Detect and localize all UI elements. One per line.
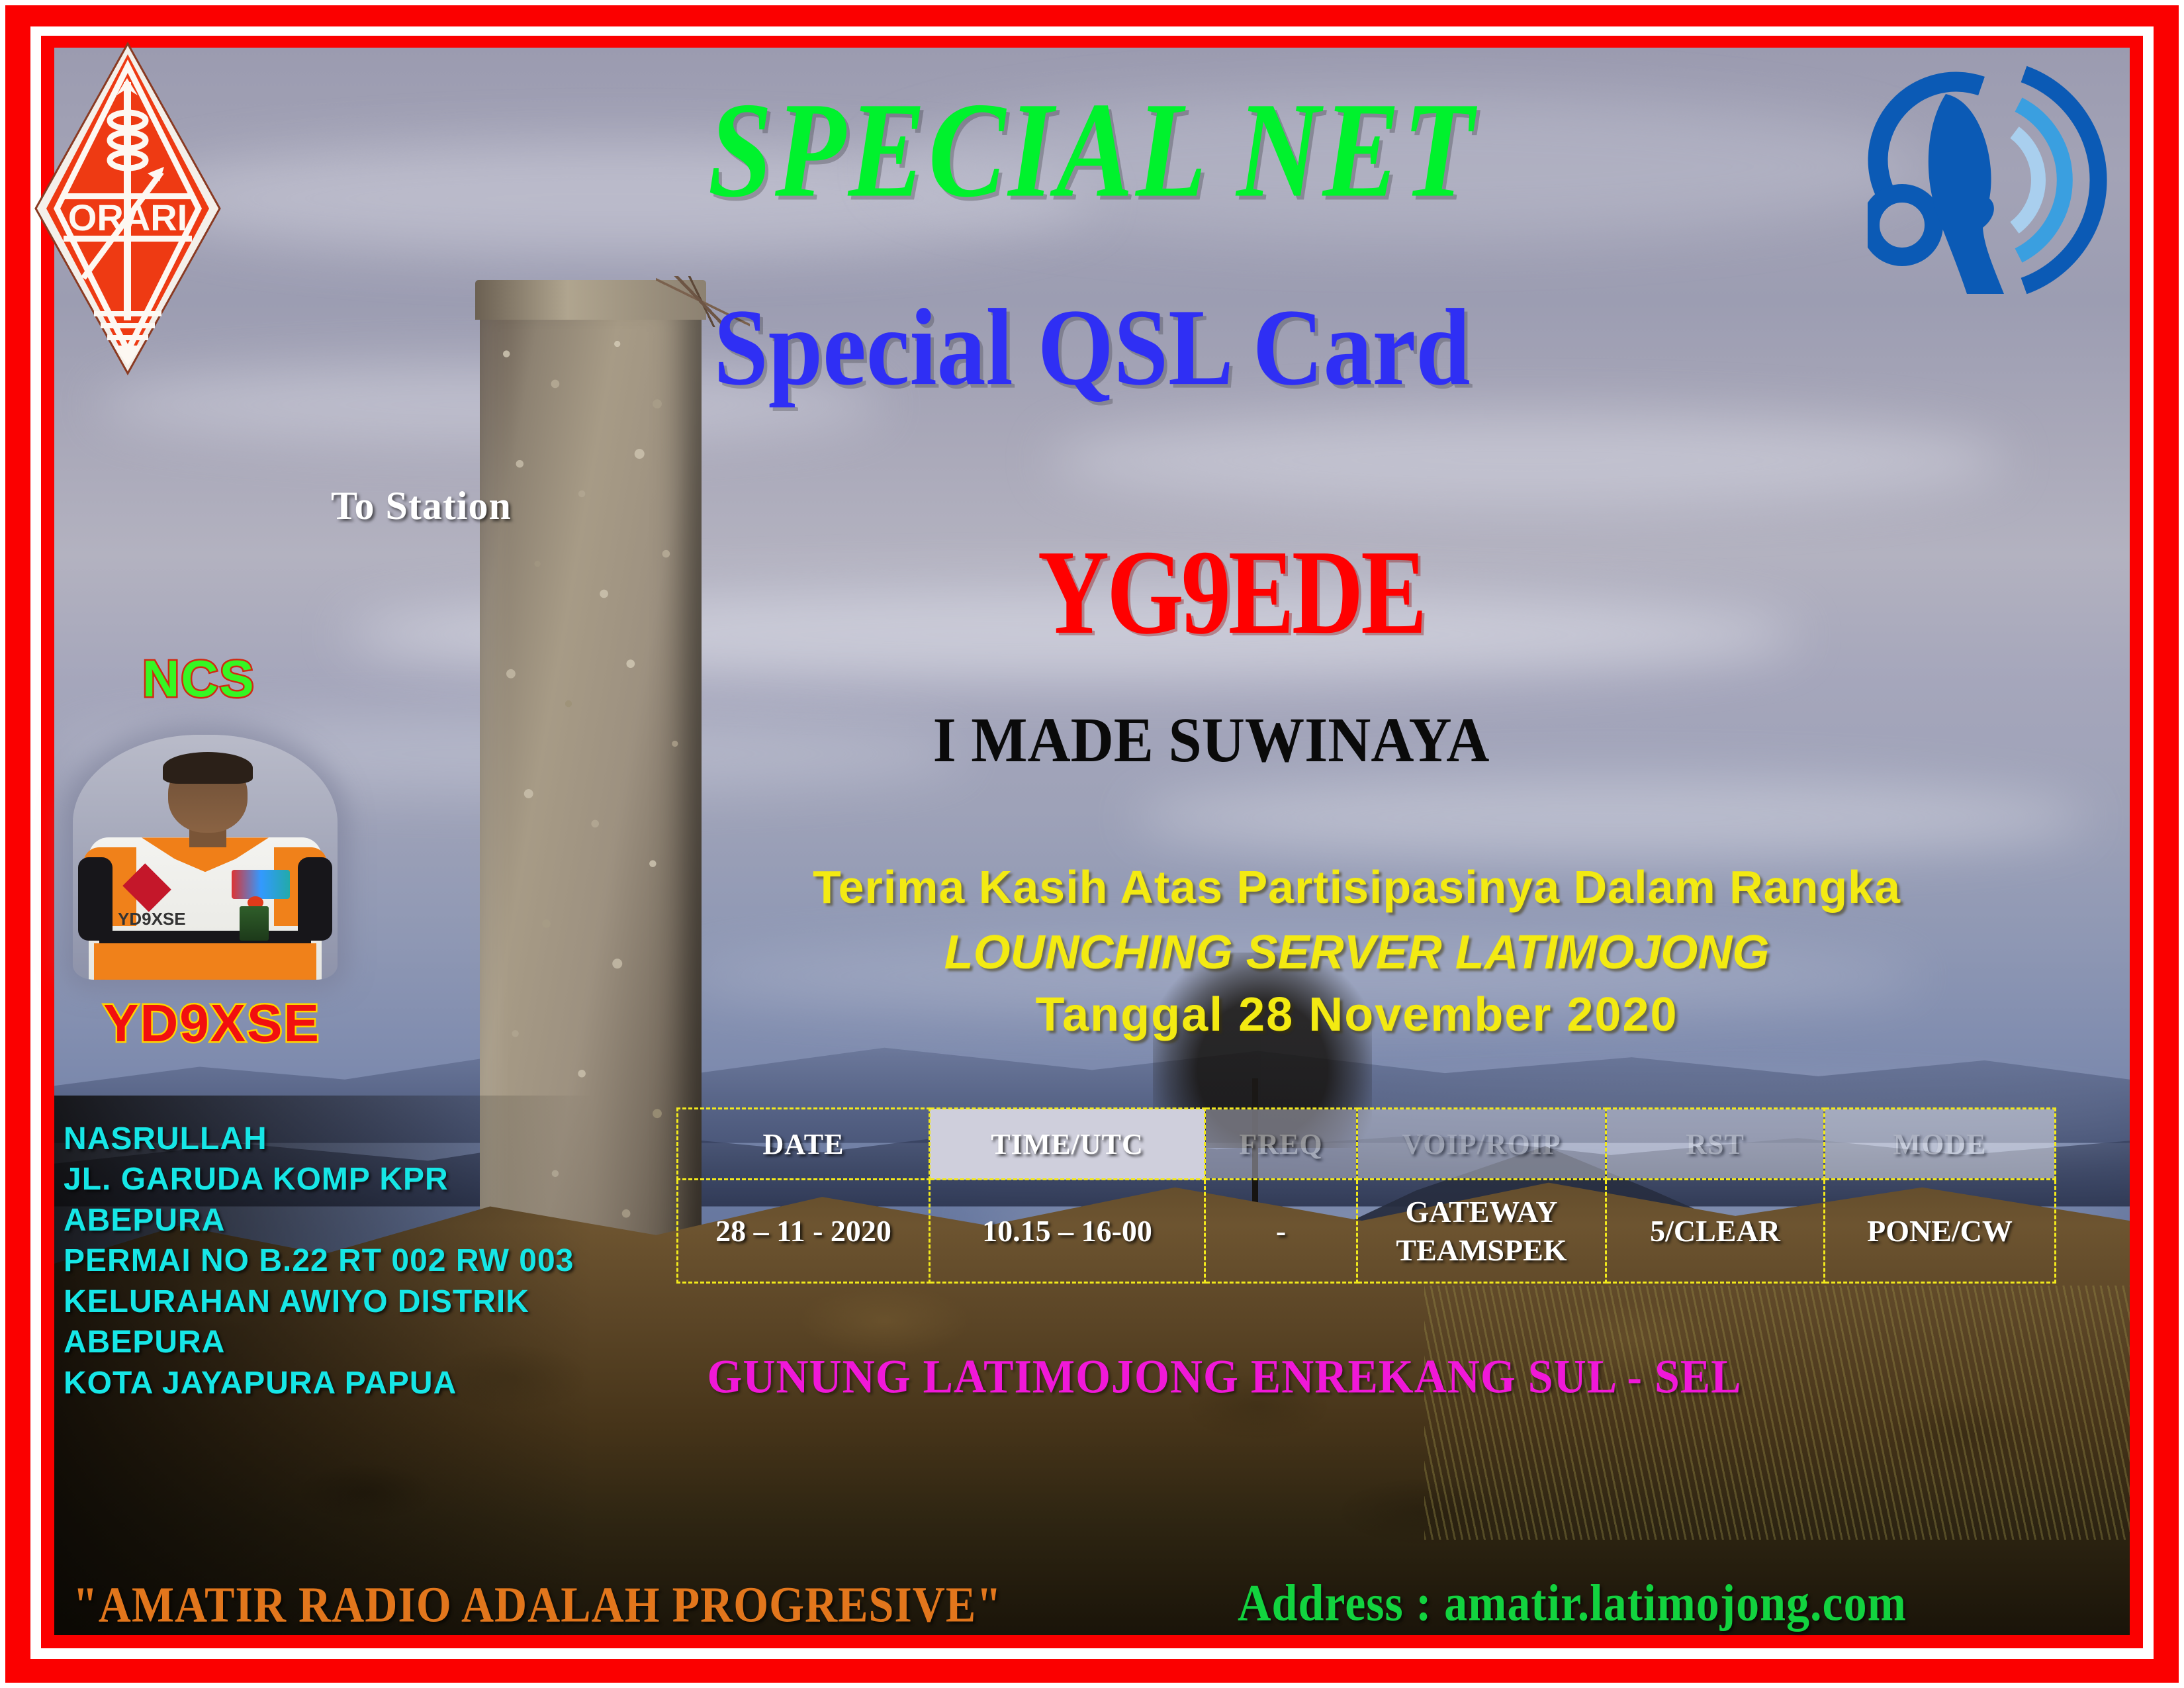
avatar-club-logo <box>232 870 290 899</box>
cell-voip-roip: GATEWAY TEAMSPEK <box>1357 1180 1606 1283</box>
location-line: GUNUNG LATIMOJONG ENREKANG SUL - SEL <box>596 1349 1853 1405</box>
cell-freq: - <box>1205 1180 1357 1283</box>
table-header-row: DATE TIME/UTC FREQ VOIP/ROIP RST MODE <box>678 1109 2056 1180</box>
cell-voip-line1: GATEWAY <box>1358 1193 1605 1231</box>
qsl-card: ORARI <box>0 0 2184 1688</box>
address-line: KOTA JAYAPURA PAPUA <box>64 1363 574 1403</box>
avatar-shirt-stripe <box>99 931 311 943</box>
website-address: Address : amatir.latimojong.com <box>1238 1574 1907 1634</box>
column-header-time-utc: TIME/UTC <box>930 1109 1205 1180</box>
operator-name: I MADE SUWINAYA <box>850 703 1572 776</box>
postal-address: NASRULLAH JL. GARUDA KOMP KPR ABEPURA PE… <box>64 1119 574 1403</box>
address-line: ABEPURA <box>64 1200 574 1241</box>
column-header-date: DATE <box>678 1109 930 1180</box>
column-header-rst: RST <box>1606 1109 1825 1180</box>
column-header-freq: FREQ <box>1205 1109 1357 1180</box>
address-line: NASRULLAH <box>64 1119 574 1159</box>
address-line: PERMAI NO B.22 RT 002 RW 003 <box>64 1241 574 1281</box>
avatar-id-badge <box>240 906 269 941</box>
avatar-hair <box>163 752 253 784</box>
avatar-sleeve-left <box>78 857 113 941</box>
qso-log-table: DATE TIME/UTC FREQ VOIP/ROIP RST MODE 28… <box>676 1107 2056 1284</box>
cell-time: 10.15 – 16-00 <box>930 1180 1205 1283</box>
column-header-voip-roip: VOIP/ROIP <box>1357 1109 1606 1180</box>
cell-rst: 5/CLEAR <box>1606 1180 1825 1283</box>
address-line: JL. GARUDA KOMP KPR <box>64 1159 574 1199</box>
column-header-mode: MODE <box>1825 1109 2056 1180</box>
club-motto: "AMATIR RADIO ADALAH PROGRESIVE" <box>73 1575 1002 1634</box>
event-line: LOUNCHING SERVER LATIMOJONG <box>761 925 1952 980</box>
address-line: KELURAHAN AWIYO DISTRIK <box>64 1282 574 1322</box>
station-callsign: YG9EDE <box>874 523 1588 662</box>
subtitle-special-qsl-card: Special QSL Card <box>0 285 2184 410</box>
cell-voip-line2: TEAMSPEK <box>1358 1231 1605 1270</box>
ncs-label: NCS <box>142 649 255 709</box>
avatar-sleeve-right <box>298 857 332 941</box>
thanks-line: Terima Kasih Atas Partisipasinya Dalam R… <box>761 861 1952 914</box>
avatar-shirt-waist <box>94 943 316 980</box>
table-row: 28 – 11 - 2020 10.15 – 16-00 - GATEWAY T… <box>678 1180 2056 1283</box>
card-overlay: ORARI <box>0 0 2184 1688</box>
to-station-label: To Station <box>331 483 512 529</box>
page-title-special-net: SPECIAL NET <box>0 71 2184 228</box>
event-date-line: Tanggal 28 November 2020 <box>761 988 1952 1042</box>
cell-mode: PONE/CW <box>1825 1180 2056 1283</box>
address-line: ABEPURA <box>64 1322 574 1362</box>
operator-avatar: YD9XSE <box>73 735 338 980</box>
avatar-shirt-callsign: YD9XSE <box>118 909 186 929</box>
ncs-callsign: YD9XSE <box>79 993 344 1054</box>
cell-date: 28 – 11 - 2020 <box>678 1180 930 1283</box>
